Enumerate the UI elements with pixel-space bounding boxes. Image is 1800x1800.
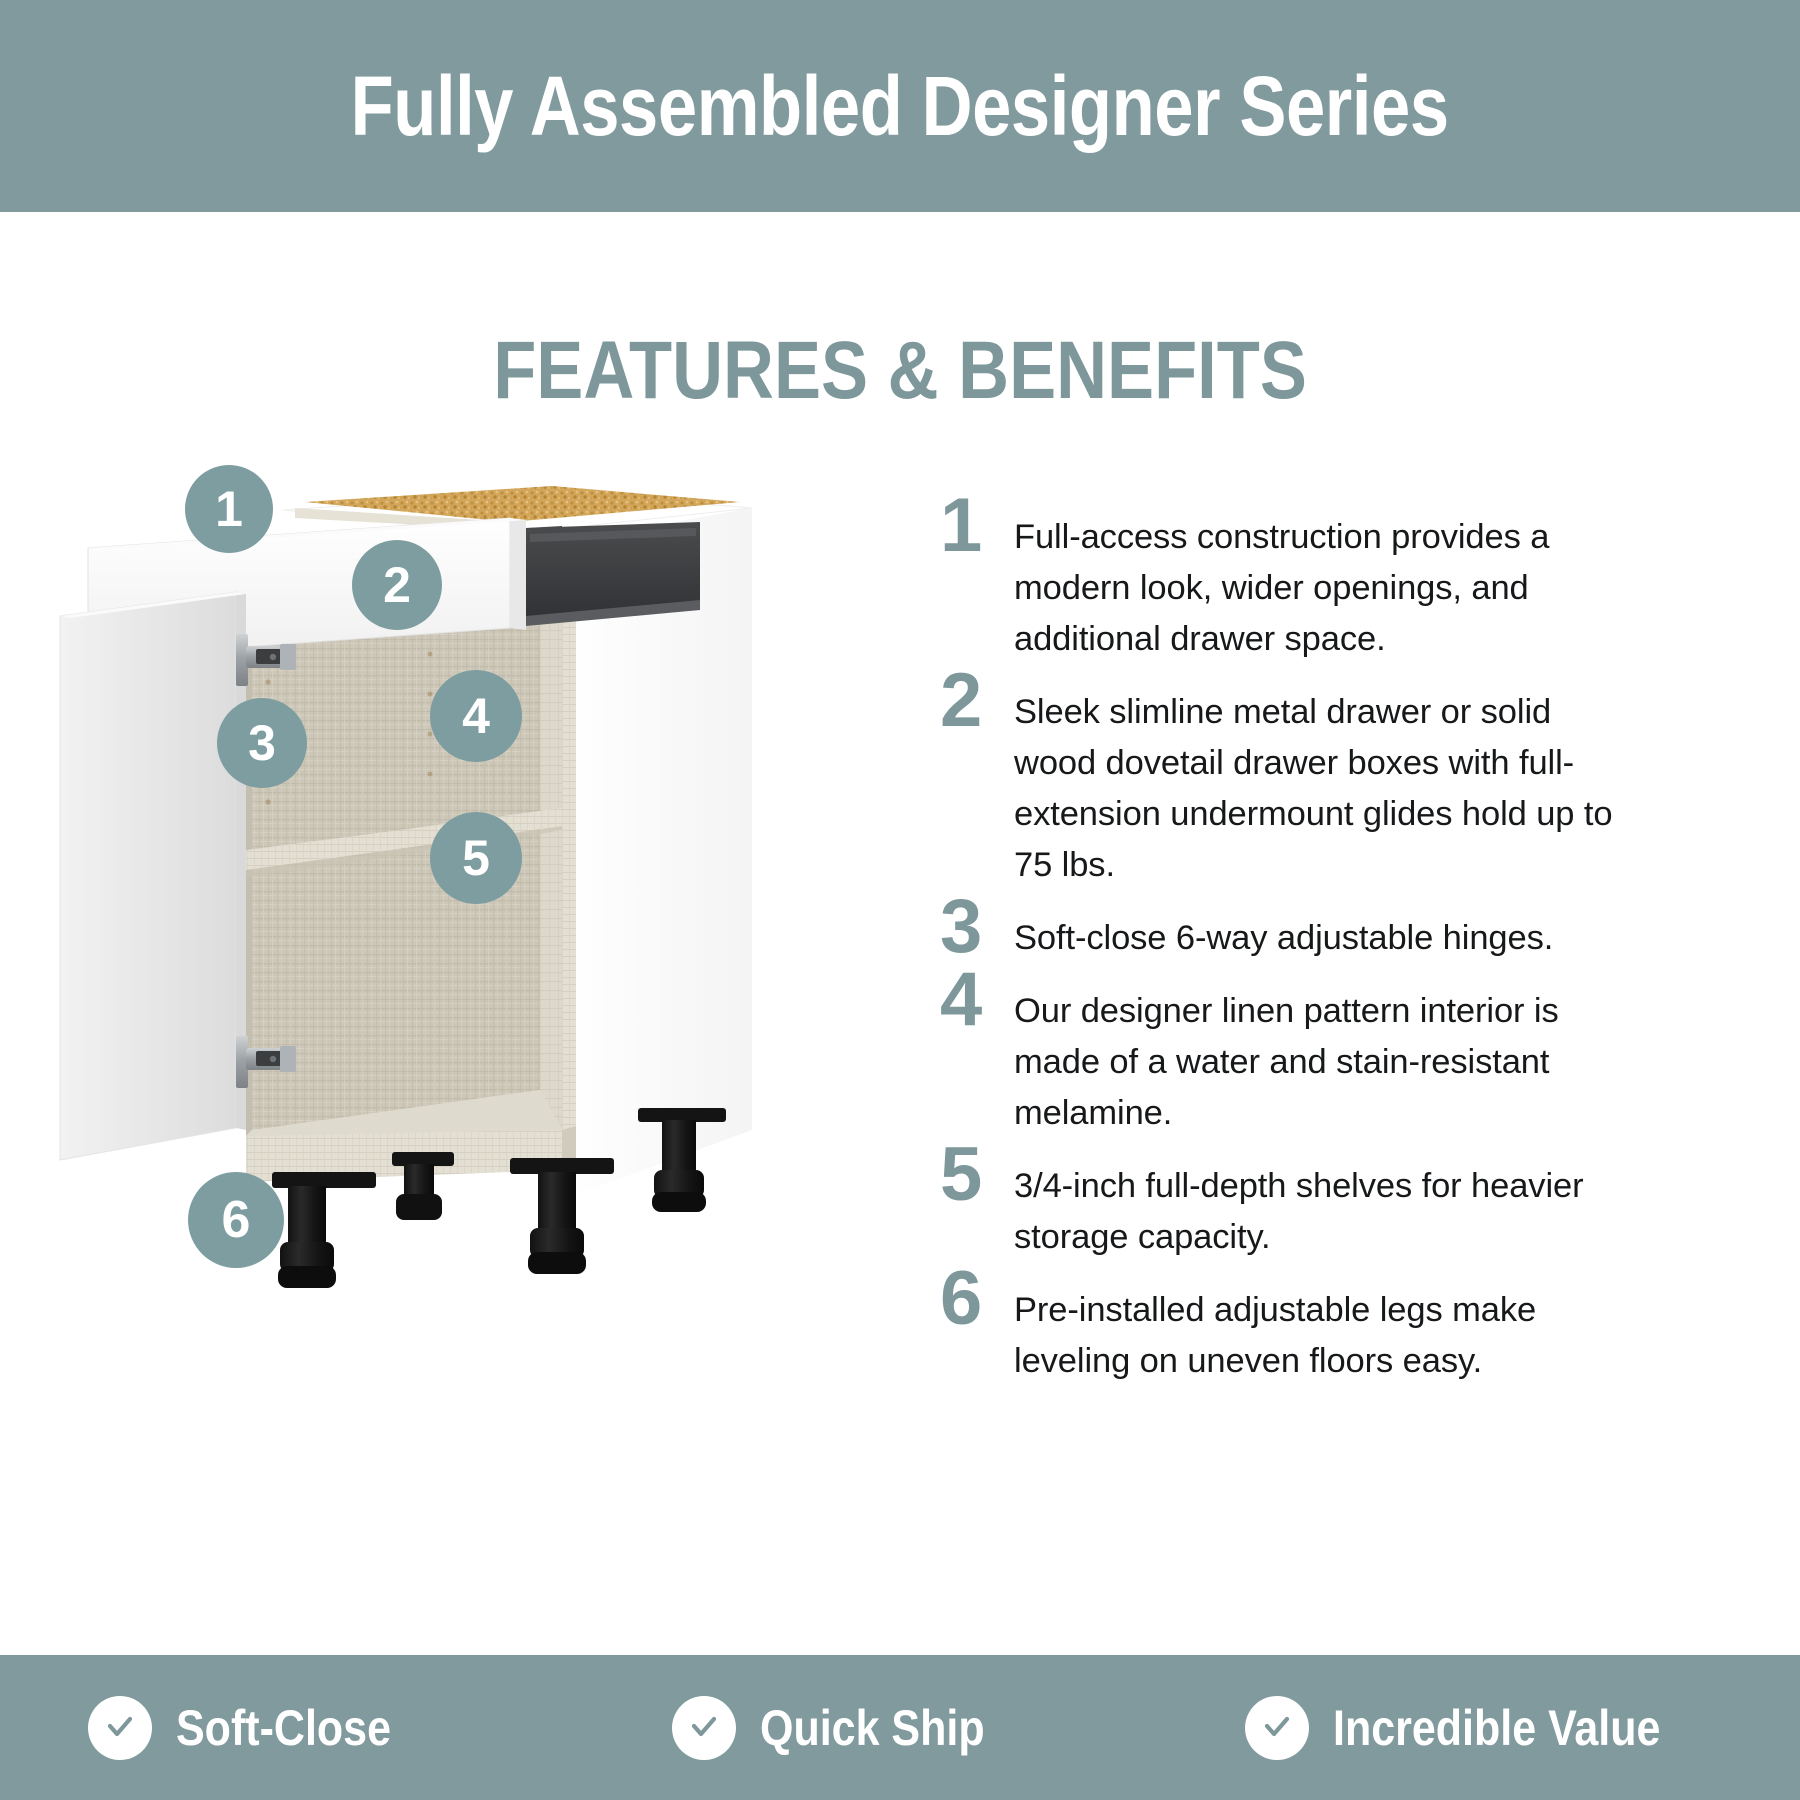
footer-label-quick-ship: Quick Ship — [760, 1703, 985, 1753]
footer-item-soft-close: Soft-Close — [88, 1696, 426, 1760]
base-cabinet-cutaway-svg — [40, 430, 900, 1380]
callout-badge-6[interactable]: 6 — [188, 1172, 284, 1268]
features-list: 1 Full-access construction provides a mo… — [940, 512, 1640, 1409]
cabinet-door-icon — [60, 592, 236, 1160]
section-heading-text: FEATURES & BENEFITS — [493, 330, 1307, 412]
feature-item-1: 1 Full-access construction provides a mo… — [940, 512, 1640, 665]
callout-badge-1-label: 1 — [215, 484, 243, 534]
footer-item-incredible-value: Incredible Value — [1245, 1696, 1714, 1760]
callout-badge-5[interactable]: 5 — [430, 812, 522, 904]
feature-number-4: 4 — [940, 972, 1014, 1028]
footer-label-incredible-value: Incredible Value — [1333, 1703, 1660, 1753]
callout-badge-3[interactable]: 3 — [217, 698, 307, 788]
callout-badge-3-label: 3 — [248, 718, 276, 768]
feature-number-6: 6 — [940, 1271, 1014, 1327]
feature-text-4: Our designer linen pattern interior is m… — [1014, 986, 1640, 1139]
callout-badge-1[interactable]: 1 — [185, 465, 273, 553]
leveling-leg-back-icon — [392, 1152, 454, 1220]
section-heading: FEATURES & BENEFITS — [0, 330, 1800, 412]
feature-item-4: 4 Our designer linen pattern interior is… — [940, 986, 1640, 1139]
feature-item-2: 2 Sleek slimline metal drawer or solid w… — [940, 687, 1640, 891]
callout-badge-4[interactable]: 4 — [430, 670, 522, 762]
check-circle-icon — [672, 1696, 736, 1760]
feature-number-5: 5 — [940, 1147, 1014, 1203]
feature-text-6: Pre-installed adjustable legs make level… — [1014, 1285, 1640, 1387]
feature-number-1: 1 — [940, 498, 1014, 554]
page-title: Fully Assembled Designer Series — [351, 64, 1449, 148]
check-circle-icon — [1245, 1696, 1309, 1760]
marketing-info-card: Fully Assembled Designer Series FEATURES… — [0, 0, 1800, 1800]
callout-badge-2[interactable]: 2 — [352, 540, 442, 630]
lower-compartment-right — [540, 830, 562, 1130]
feature-item-3: 3 Soft-close 6-way adjustable hinges. — [940, 913, 1640, 964]
footer-item-quick-ship: Quick Ship — [672, 1696, 1021, 1760]
drawer-front-right-edge — [510, 518, 526, 630]
callout-badge-2-label: 2 — [383, 560, 411, 610]
feature-text-2: Sleek slimline metal drawer or solid woo… — [1014, 687, 1640, 891]
right-panel-edge — [562, 540, 576, 1200]
feature-text-5: 3/4-inch full-depth shelves for heavier … — [1014, 1161, 1640, 1263]
leveling-leg-icon — [272, 1172, 376, 1288]
callout-badge-4-label: 4 — [462, 691, 490, 741]
header-bar: Fully Assembled Designer Series — [0, 0, 1800, 212]
feature-number-3: 3 — [940, 899, 1014, 955]
feature-item-6: 6 Pre-installed adjustable legs make lev… — [940, 1285, 1640, 1387]
footer-bar: Soft-Close Quick Ship Incredible Value — [0, 1655, 1800, 1800]
feature-text-3: Soft-close 6-way adjustable hinges. — [1014, 913, 1640, 964]
feature-item-5: 5 3/4-inch full-depth shelves for heavie… — [940, 1161, 1640, 1263]
footer-label-soft-close: Soft-Close — [176, 1703, 391, 1753]
cabinet-illustration: 1 2 3 4 5 6 — [40, 430, 900, 1380]
callout-badge-6-label: 6 — [222, 1194, 251, 1246]
callout-badge-5-label: 5 — [462, 833, 490, 883]
feature-number-2: 2 — [940, 673, 1014, 729]
check-circle-icon — [88, 1696, 152, 1760]
feature-text-1: Full-access construction provides a mode… — [1014, 512, 1640, 665]
